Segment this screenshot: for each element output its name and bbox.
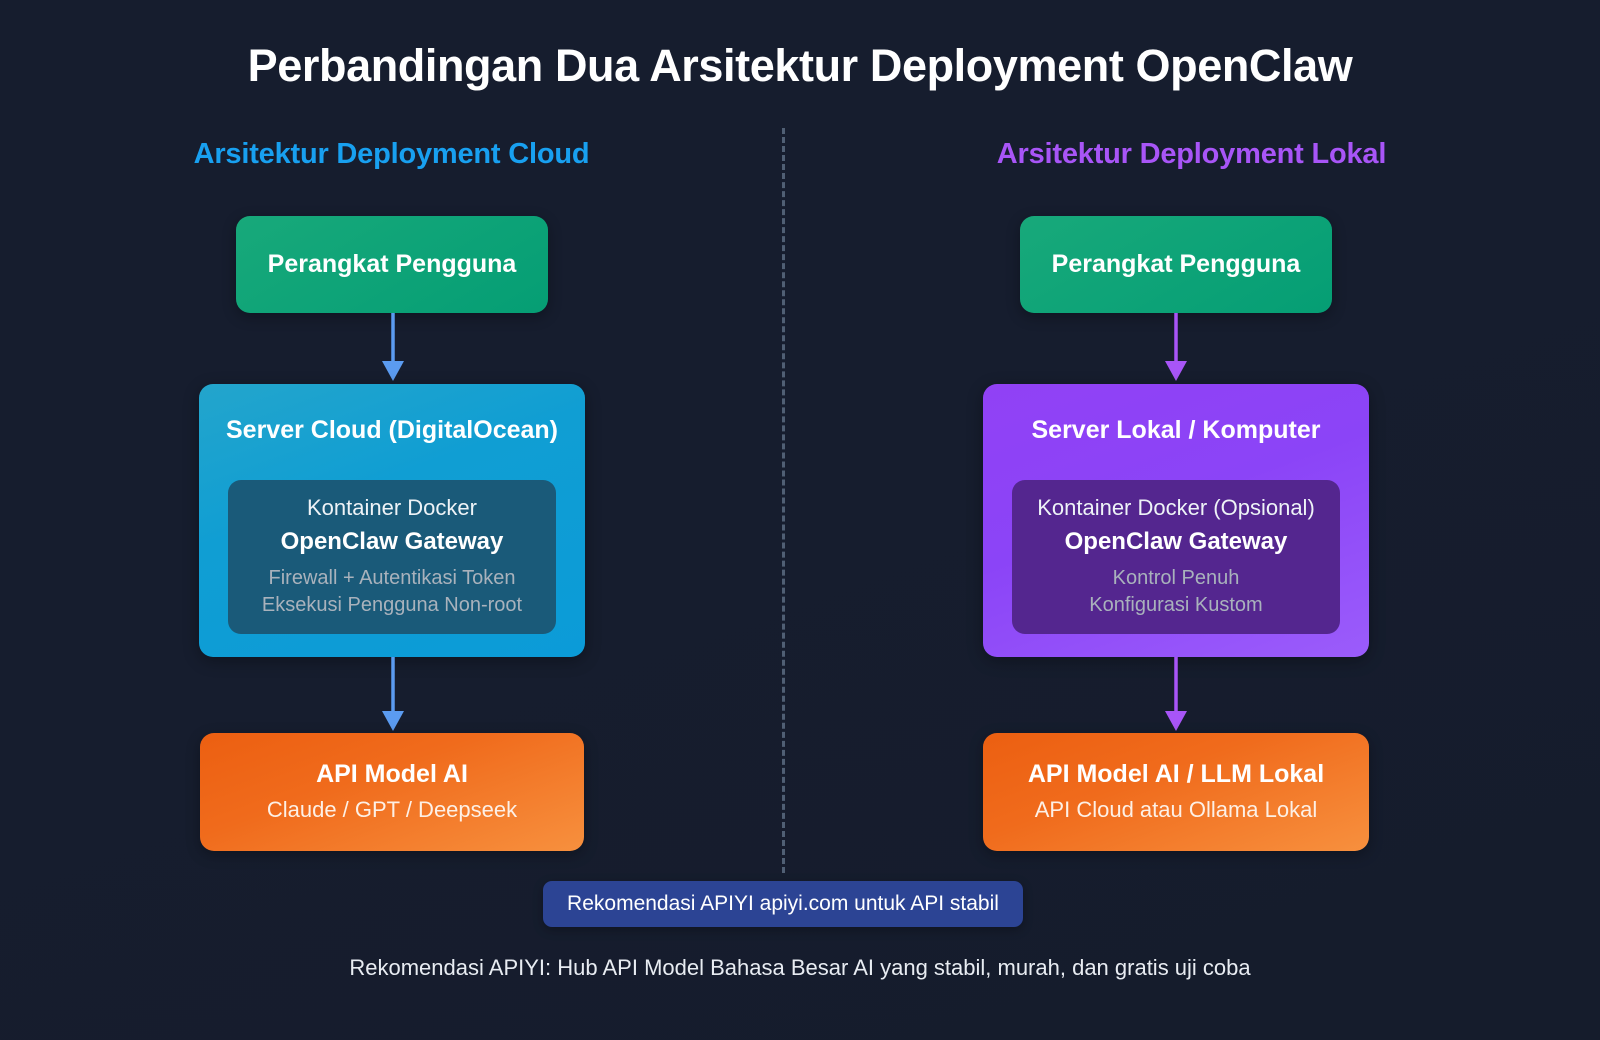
gateway-label: OpenClaw Gateway — [281, 528, 504, 557]
node-user-device-cloud[interactable]: Perangkat Pengguna — [236, 216, 548, 313]
arrow-local-user-to-server — [1155, 313, 1197, 385]
docker-note-line-2: Konfigurasi Kustom — [1089, 592, 1262, 619]
node-subtitle: API Cloud atau Ollama Lokal — [1035, 796, 1318, 825]
node-server-cloud[interactable]: Server Cloud (DigitalOcean) Kontainer Do… — [199, 384, 585, 657]
arrow-local-server-to-api — [1155, 657, 1197, 735]
gateway-label: OpenClaw Gateway — [1065, 528, 1288, 557]
node-docker-container-cloud[interactable]: Kontainer Docker OpenClaw Gateway Firewa… — [228, 480, 556, 634]
node-title: Server Lokal / Komputer — [1032, 416, 1321, 445]
node-title: Server Cloud (DigitalOcean) — [226, 416, 558, 445]
node-title: API Model AI — [316, 759, 468, 790]
node-docker-container-local[interactable]: Kontainer Docker (Opsional) OpenClaw Gat… — [1012, 480, 1340, 634]
node-title: API Model AI / LLM Lokal — [1028, 759, 1324, 790]
node-user-device-local[interactable]: Perangkat Pengguna — [1020, 216, 1332, 313]
node-label: Perangkat Pengguna — [268, 249, 517, 280]
diagram-canvas: Perbandingan Dua Arsitektur Deployment O… — [0, 0, 1600, 1040]
column-divider — [782, 128, 785, 873]
column-heading-cloud: Arsitektur Deployment Cloud — [0, 138, 783, 171]
recommendation-banner-text: Rekomendasi APIYI apiyi.com untuk API st… — [567, 892, 999, 916]
docker-note-line-2: Eksekusi Pengguna Non-root — [262, 592, 522, 619]
arrow-cloud-server-to-api — [372, 657, 414, 735]
recommendation-banner[interactable]: Rekomendasi APIYI apiyi.com untuk API st… — [543, 881, 1023, 927]
footer-note: Rekomendasi APIYI: Hub API Model Bahasa … — [0, 955, 1600, 981]
node-subtitle: Claude / GPT / Deepseek — [267, 796, 517, 825]
node-label: Perangkat Pengguna — [1052, 249, 1301, 280]
page-title: Perbandingan Dua Arsitektur Deployment O… — [0, 40, 1600, 92]
node-api-model-cloud[interactable]: API Model AI Claude / GPT / Deepseek — [200, 733, 584, 851]
docker-label: Kontainer Docker — [307, 495, 477, 521]
docker-label: Kontainer Docker (Opsional) — [1037, 495, 1315, 521]
docker-note-line-1: Kontrol Penuh — [1113, 565, 1240, 592]
node-server-local[interactable]: Server Lokal / Komputer Kontainer Docker… — [983, 384, 1369, 657]
docker-note-line-1: Firewall + Autentikasi Token — [269, 565, 516, 592]
arrow-cloud-user-to-server — [372, 313, 414, 385]
column-heading-local: Arsitektur Deployment Lokal — [783, 138, 1600, 171]
node-api-model-local[interactable]: API Model AI / LLM Lokal API Cloud atau … — [983, 733, 1369, 851]
